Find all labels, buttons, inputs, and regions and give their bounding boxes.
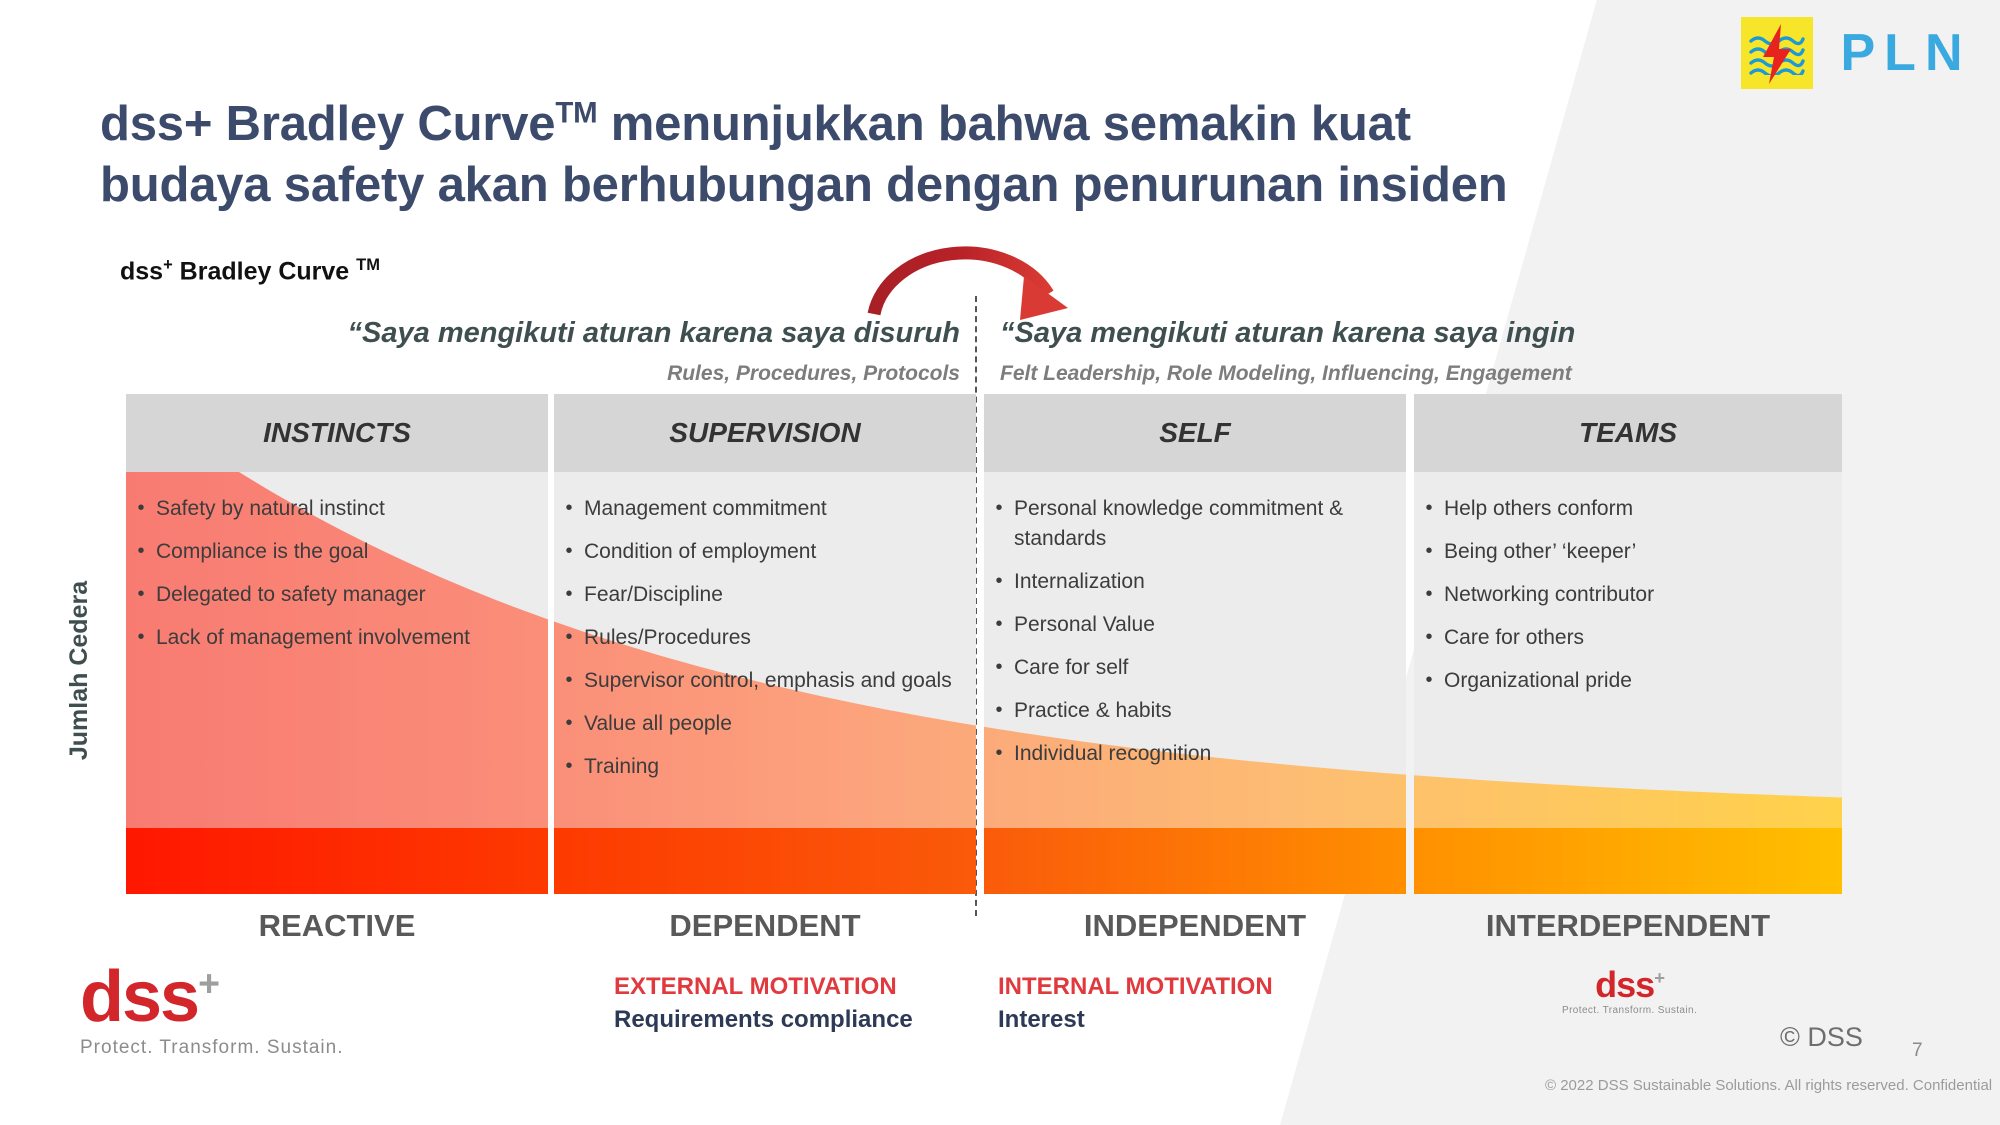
list-item-text: Help others conform <box>1444 494 1828 524</box>
list-item: •Lack of management involvement <box>126 623 548 653</box>
y-axis-label: Jumlah Cedera <box>60 520 100 820</box>
list-item: •Safety by natural instinct <box>126 494 548 524</box>
curve-solid-band <box>984 828 1406 894</box>
list-item: •Help others conform <box>1414 494 1842 524</box>
dss-tagline: Protect. Transform. Sustain. <box>80 1037 343 1059</box>
quote-left: “Saya mengikuti aturan karena saya disur… <box>200 317 960 350</box>
chart-caption-mid: Bradley Curve <box>173 257 356 285</box>
list-item-text: Individual recognition <box>1014 739 1392 769</box>
list-item-text: Networking contributor <box>1444 580 1828 610</box>
column-bullet-list: •Safety by natural instinct•Compliance i… <box>126 472 548 653</box>
title-line1-b: menunjukkan bahwa semakin kuat <box>597 97 1410 151</box>
list-item-text: Care for self <box>1014 653 1392 683</box>
quote-right-subtitle: Felt Leadership, Role Modeling, Influenc… <box>1000 362 1572 386</box>
bullet-dot-icon: • <box>984 696 1014 726</box>
list-item-text: Practice & habits <box>1014 696 1392 726</box>
list-item: •Rules/Procedures <box>554 623 976 653</box>
bullet-dot-icon: • <box>126 494 156 524</box>
stage-label-independent: INDEPENDENT <box>984 908 1406 944</box>
list-item-text: Compliance is the goal <box>156 537 534 567</box>
dss-plus-icon: + <box>198 962 218 1004</box>
bullet-dot-icon: • <box>1414 537 1444 567</box>
copyright-mark: © DSS <box>1780 1022 1863 1053</box>
y-axis-label-text: Jumlah Cedera <box>66 580 95 759</box>
page-title: dss+ Bradley CurveTM menunjukkan bahwa s… <box>100 94 1800 217</box>
curve-solid-band <box>126 828 548 894</box>
column-header-supervision: SUPERVISION <box>554 394 976 472</box>
dss-plus-logo: dss+ Protect. Transform. Sustain. <box>80 963 343 1059</box>
bullet-dot-icon: • <box>126 580 156 610</box>
list-item: •Practice & habits <box>984 696 1406 726</box>
slide-canvas: PLN dss+ Bradley CurveTM menunjukkan bah… <box>0 0 2000 1125</box>
bullet-dot-icon: • <box>1414 580 1444 610</box>
column-bullet-list: •Help others conform•Being other’ ‘keepe… <box>1414 472 1842 696</box>
bullet-dot-icon: • <box>554 623 584 653</box>
list-item: •Organizational pride <box>1414 666 1842 696</box>
list-item-text: Supervisor control, emphasis and goals <box>584 666 962 696</box>
list-item-text: Care for others <box>1444 623 1828 653</box>
chart-caption: dss+ Bradley Curve TM <box>120 256 380 286</box>
pln-logo: PLN <box>1741 14 1979 92</box>
bullet-dot-icon: • <box>984 739 1014 769</box>
column-header-text: SELF <box>1159 417 1231 449</box>
bullet-dot-icon: • <box>984 653 1014 683</box>
bradley-curve-chart: INSTINCTS•Safety by natural instinct•Com… <box>126 394 1842 894</box>
dss-wordmark-small-text: dss <box>1595 964 1654 1005</box>
bullet-dot-icon: • <box>1414 494 1444 524</box>
chart-caption-plus: + <box>163 256 173 274</box>
bullet-dot-icon: • <box>984 567 1014 597</box>
column-header-text: TEAMS <box>1579 417 1677 449</box>
bullet-dot-icon: • <box>554 494 584 524</box>
list-item-text: Condition of employment <box>584 537 962 567</box>
quote-left-subtitle: Rules, Procedures, Protocols <box>200 362 960 386</box>
column-header-instincts: INSTINCTS <box>126 394 548 472</box>
list-item: •Value all people <box>554 709 976 739</box>
dss-wordmark-text: dss <box>80 957 198 1037</box>
curve-solid-band <box>1414 828 1842 894</box>
list-item: •Condition of employment <box>554 537 976 567</box>
list-item: •Care for self <box>984 653 1406 683</box>
bullet-dot-icon: • <box>1414 623 1444 653</box>
list-item-text: Delegated to safety manager <box>156 580 534 610</box>
bullet-dot-icon: • <box>984 494 1014 555</box>
list-item: •Care for others <box>1414 623 1842 653</box>
list-item-text: Management commitment <box>584 494 962 524</box>
bullet-dot-icon: • <box>554 666 584 696</box>
bullet-dot-icon: • <box>554 752 584 782</box>
dss-plus-icon-small: + <box>1654 967 1664 988</box>
chart-caption-dss: dss <box>120 257 163 285</box>
title-tm: TM <box>555 97 597 130</box>
stage-label-reactive: REACTIVE <box>126 908 548 944</box>
stage-label-dependent: DEPENDENT <box>554 908 976 944</box>
column-bullet-list: •Personal knowledge commitment & standar… <box>984 472 1406 770</box>
list-item: •Personal knowledge commitment & standar… <box>984 494 1406 555</box>
bullet-dot-icon: • <box>1414 666 1444 696</box>
list-item-text: Organizational pride <box>1444 666 1828 696</box>
page-number: 7 <box>1912 1040 1923 1062</box>
list-item-text: Being other’ ‘keeper’ <box>1444 537 1828 567</box>
pln-wordmark: PLN <box>1841 27 1972 79</box>
bullet-dot-icon: • <box>984 610 1014 640</box>
list-item-text: Fear/Discipline <box>584 580 962 610</box>
progression-arrow-icon <box>862 232 1082 322</box>
list-item: •Supervisor control, emphasis and goals <box>554 666 976 696</box>
dss-wordmark: dss+ <box>80 963 343 1031</box>
list-item: •Management commitment <box>554 494 976 524</box>
list-item-text: Training <box>584 752 962 782</box>
quote-right: “Saya mengikuti aturan karena saya ingin <box>1000 317 1575 350</box>
list-item-text: Safety by natural instinct <box>156 494 534 524</box>
internal-motivation-subtitle: Interest <box>998 1006 1085 1034</box>
list-item: •Networking contributor <box>1414 580 1842 610</box>
column-header-text: SUPERVISION <box>669 417 860 449</box>
list-item: •Internalization <box>984 567 1406 597</box>
list-item: •Training <box>554 752 976 782</box>
footer-fine-print: © 2022 DSS Sustainable Solutions. All ri… <box>1545 1077 1992 1094</box>
list-item: •Individual recognition <box>984 739 1406 769</box>
curve-solid-band <box>554 828 976 894</box>
chart-caption-tm: TM <box>356 256 380 274</box>
list-item: •Being other’ ‘keeper’ <box>1414 537 1842 567</box>
bullet-dot-icon: • <box>126 537 156 567</box>
stage-label-interdependent: INTERDEPENDENT <box>1414 908 1842 944</box>
list-item: •Compliance is the goal <box>126 537 548 567</box>
external-motivation-subtitle: Requirements compliance <box>614 1006 913 1034</box>
external-motivation-title: EXTERNAL MOTIVATION <box>614 973 897 1001</box>
list-item-text: Lack of management involvement <box>156 623 534 653</box>
dss-plus-logo-small: dss+ Protect. Transform. Sustain. <box>1562 968 1697 1016</box>
chart-column-dependent: SUPERVISION•Management commitment•Condit… <box>554 394 976 894</box>
bullet-dot-icon: • <box>126 623 156 653</box>
chart-column-independent: SELF•Personal knowledge commitment & sta… <box>984 394 1406 894</box>
column-bullet-list: •Management commitment•Condition of empl… <box>554 472 976 782</box>
column-header-text: INSTINCTS <box>263 417 411 449</box>
list-item-text: Personal Value <box>1014 610 1392 640</box>
column-header-self: SELF <box>984 394 1406 472</box>
internal-motivation-title: INTERNAL MOTIVATION <box>998 973 1273 1001</box>
list-item: •Delegated to safety manager <box>126 580 548 610</box>
bullet-dot-icon: • <box>554 537 584 567</box>
chart-column-reactive: INSTINCTS•Safety by natural instinct•Com… <box>126 394 548 894</box>
list-item-text: Internalization <box>1014 567 1392 597</box>
dss-wordmark-small: dss+ <box>1562 968 1697 1002</box>
column-header-teams: TEAMS <box>1414 394 1842 472</box>
list-item-text: Value all people <box>584 709 962 739</box>
dss-tagline-small: Protect. Transform. Sustain. <box>1562 1005 1697 1016</box>
pln-bolt-icon <box>1757 23 1797 85</box>
list-item: •Personal Value <box>984 610 1406 640</box>
list-item: •Fear/Discipline <box>554 580 976 610</box>
bullet-dot-icon: • <box>554 709 584 739</box>
title-line2: budaya safety akan berhubungan dengan pe… <box>100 158 1508 212</box>
list-item-text: Rules/Procedures <box>584 623 962 653</box>
bullet-dot-icon: • <box>554 580 584 610</box>
title-line1-a: dss+ Bradley Curve <box>100 97 555 151</box>
chart-column-interdependent: TEAMS•Help others conform•Being other’ ‘… <box>1414 394 1842 894</box>
pln-lightning-waves-icon <box>1741 17 1813 89</box>
list-item-text: Personal knowledge commitment & standard… <box>1014 494 1392 555</box>
